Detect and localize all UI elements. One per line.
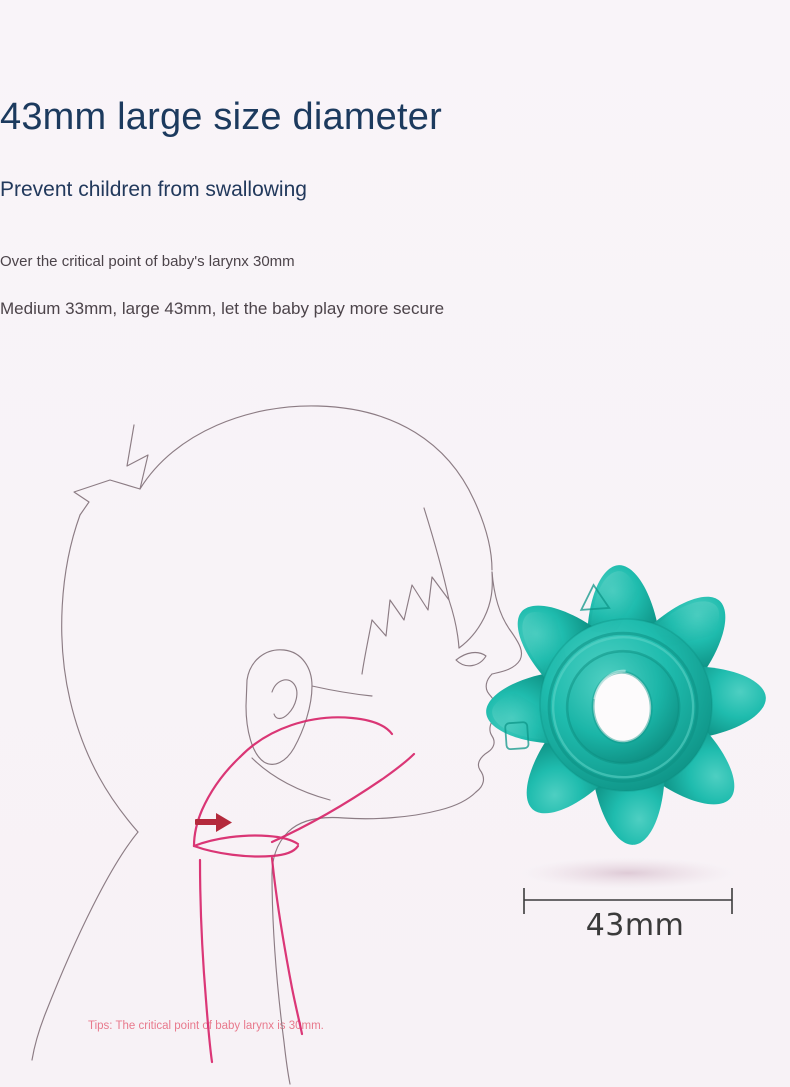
detail-line-sizes: Medium 33mm, large 43mm, let the baby pl…: [0, 297, 790, 321]
dimension-label: 43mm: [500, 908, 770, 944]
tips-note: Tips: The critical point of baby larynx …: [88, 1018, 324, 1034]
subtitle: Prevent children from swallowing: [0, 176, 790, 204]
toy-body: [477, 556, 776, 855]
larynx-pointer-arrow: [195, 813, 232, 832]
toy-drop-shadow: [520, 857, 736, 889]
triangle-emboss-mark: [580, 584, 610, 610]
center-oval-hole: [591, 670, 654, 744]
infographic-page: 43mm large size diameter Prevent childre…: [0, 0, 790, 1087]
larynx-critical-point-line: [194, 717, 414, 1062]
square-emboss-mark: [505, 722, 529, 749]
detail-line-larynx: Over the critical point of baby's larynx…: [0, 251, 790, 273]
page-title: 43mm large size diameter: [0, 94, 790, 140]
